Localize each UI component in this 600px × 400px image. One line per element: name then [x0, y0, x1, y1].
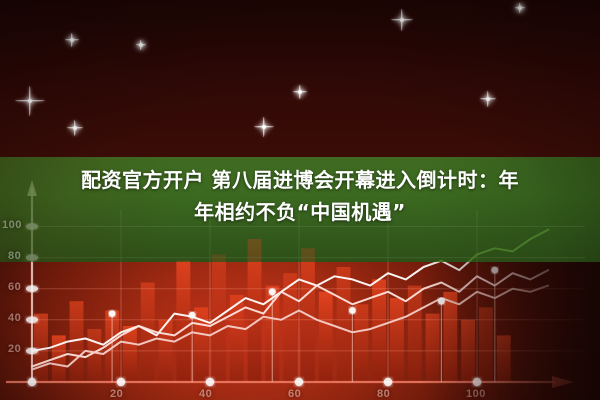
- headline: 配资官方开户 第八届进博会开幕进入倒计时：年 年相约不负“中国机遇”: [0, 164, 600, 228]
- arrow-right-icon: [552, 376, 574, 388]
- chart-bar: [283, 273, 297, 382]
- chart-bar: [319, 292, 333, 382]
- background-top-dark: [0, 0, 600, 158]
- axis-tick-dot: [117, 378, 125, 386]
- chart-bar: [141, 283, 155, 383]
- chart-bar: [123, 326, 137, 382]
- chart-bar: [248, 239, 262, 382]
- data-point-marker: [109, 310, 116, 317]
- chart-bar: [461, 320, 475, 382]
- axis-tick-dot: [206, 378, 214, 386]
- chart-bar: [34, 314, 48, 382]
- chart-bar: [390, 298, 404, 382]
- headline-line-1: 配资官方开户 第八届进博会开幕进入倒计时：年: [0, 164, 600, 196]
- chart-line: [32, 230, 548, 351]
- chart-bar: [301, 248, 315, 382]
- axis-tick-dot: [295, 378, 303, 386]
- axis-tick-dot: [473, 378, 481, 386]
- chart-line: [32, 286, 548, 370]
- chart-bar: [70, 301, 84, 382]
- axis-tick-dot: [26, 317, 38, 323]
- chart-bar: [372, 279, 386, 382]
- chart-bar: [212, 255, 226, 383]
- chart-bar: [194, 307, 208, 382]
- data-point-marker: [491, 267, 498, 274]
- chart-bar: [408, 286, 422, 382]
- chart-bar: [265, 286, 279, 382]
- chart-bar: [443, 292, 457, 382]
- chart-bar: [159, 320, 173, 382]
- axis-tick-dot: [384, 378, 392, 386]
- chart-bar: [105, 311, 119, 383]
- axis-tick-dot: [26, 254, 38, 260]
- axis-tick-dot: [26, 286, 38, 292]
- data-point-marker: [349, 307, 356, 314]
- axis-tick-dot: [28, 378, 36, 386]
- chart-bar: [479, 307, 493, 382]
- chart-bar: [354, 304, 368, 382]
- chart-bar: [52, 335, 66, 382]
- headline-line-2: 年相约不负“中国机遇”: [0, 196, 600, 228]
- chart-bar: [337, 267, 351, 382]
- chart-bar: [497, 335, 511, 382]
- chart-bar: [230, 295, 244, 382]
- data-point-marker: [269, 288, 276, 295]
- chart-bar: [176, 261, 190, 382]
- axis-tick-dot: [26, 348, 38, 354]
- chart-bar: [426, 314, 440, 382]
- data-point-marker: [189, 312, 196, 319]
- chart-line: [32, 270, 548, 366]
- chart-bar: [87, 329, 101, 382]
- banner-image: 2040608010020406080100 配资官方开户 第八届进博会开幕进入…: [0, 0, 600, 400]
- data-point-marker: [438, 298, 445, 305]
